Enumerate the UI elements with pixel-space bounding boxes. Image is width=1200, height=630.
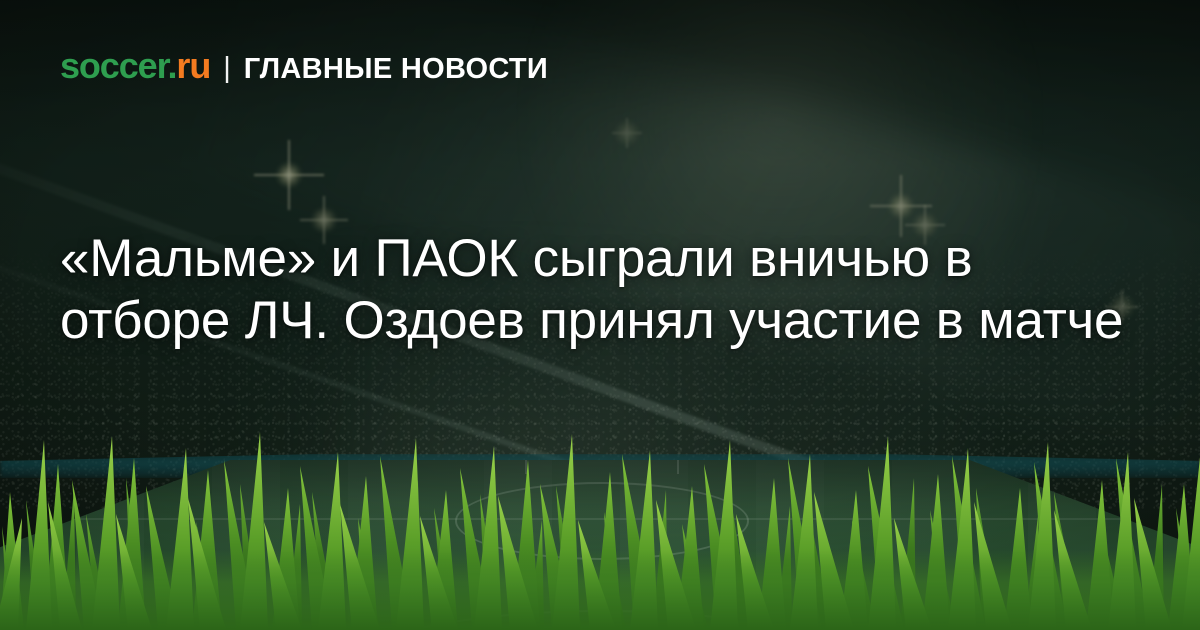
header-separator: | [223, 54, 231, 83]
page-title: «Мальме» и ПАОК сыграли вничью в отборе … [60, 228, 1145, 352]
news-card: soccer.ru | ГЛАВНЫЕ НОВОСТИ «Мальме» и П… [0, 0, 1200, 630]
foreground-grass [0, 430, 1200, 630]
logo-tld-part: ru [176, 45, 210, 86]
header-kicker: ГЛАВНЫЕ НОВОСТИ [244, 55, 548, 84]
site-header: soccer.ru | ГЛАВНЫЕ НОВОСТИ [60, 48, 548, 84]
soccer-ru-logo[interactable]: soccer.ru [60, 48, 210, 84]
logo-name-part: soccer [60, 45, 168, 86]
